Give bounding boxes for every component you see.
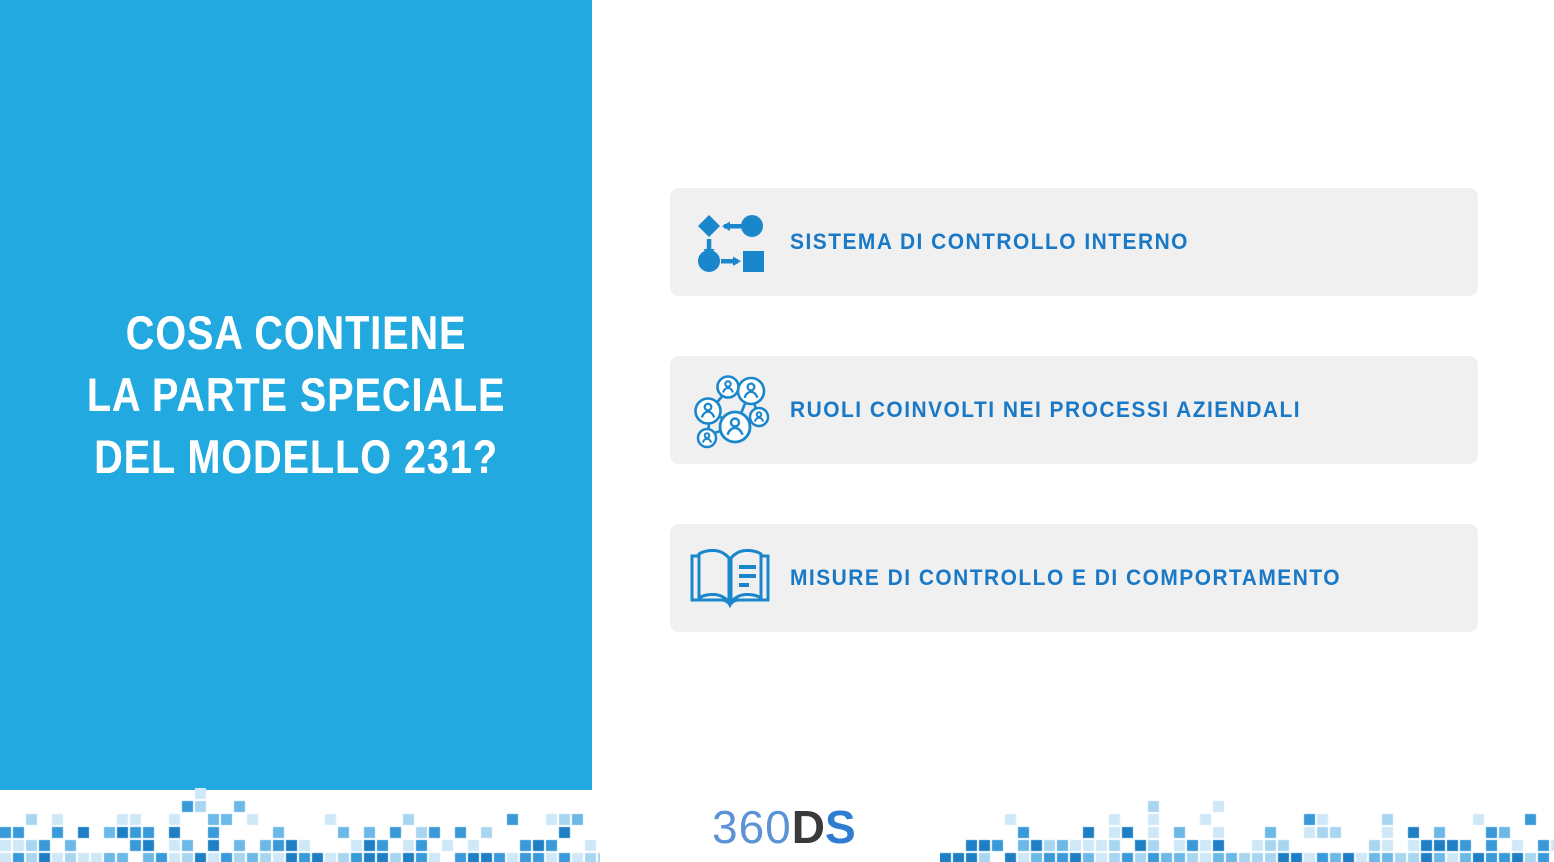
page-title: COSA CONTIENE LA PARTE SPECIALE DEL MODE… [70,302,522,488]
open-book-icon [670,524,790,632]
topic-card-ruoli-coinvolti-nei-processi-aziendali[interactable]: RUOLI COINVOLTI NEI PROCESSI AZIENDALI [670,356,1478,464]
topic-card-sistema-di-controllo-interno[interactable]: SISTEMA DI CONTROLLO INTERNO [670,188,1478,296]
topic-card-label: SISTEMA DI CONTROLLO INTERNO [790,229,1189,255]
process-flow-icon [670,188,790,296]
pixel-mosaic-right [940,788,1554,862]
left-title-panel: COSA CONTIENE LA PARTE SPECIALE DEL MODE… [0,0,592,790]
brand-logo: 360DS [712,797,856,857]
people-network-icon [670,356,790,464]
logo-letter-s: S [825,801,856,853]
slide-root: COSA CONTIENE LA PARTE SPECIALE DEL MODE… [0,0,1554,862]
topic-card-label: MISURE DI CONTROLLO E DI COMPORTAMENTO [790,565,1341,591]
topic-card-label: RUOLI COINVOLTI NEI PROCESSI AZIENDALI [790,397,1301,423]
logo-number: 360 [712,801,792,853]
topic-card-list: SISTEMA DI CONTROLLO INTERNO [670,188,1478,632]
logo-letter-d: D [792,801,825,853]
topic-card-misure-di-controllo-e-di-comportamento[interactable]: MISURE DI CONTROLLO E DI COMPORTAMENTO [670,524,1478,632]
pixel-mosaic-left [0,788,600,862]
